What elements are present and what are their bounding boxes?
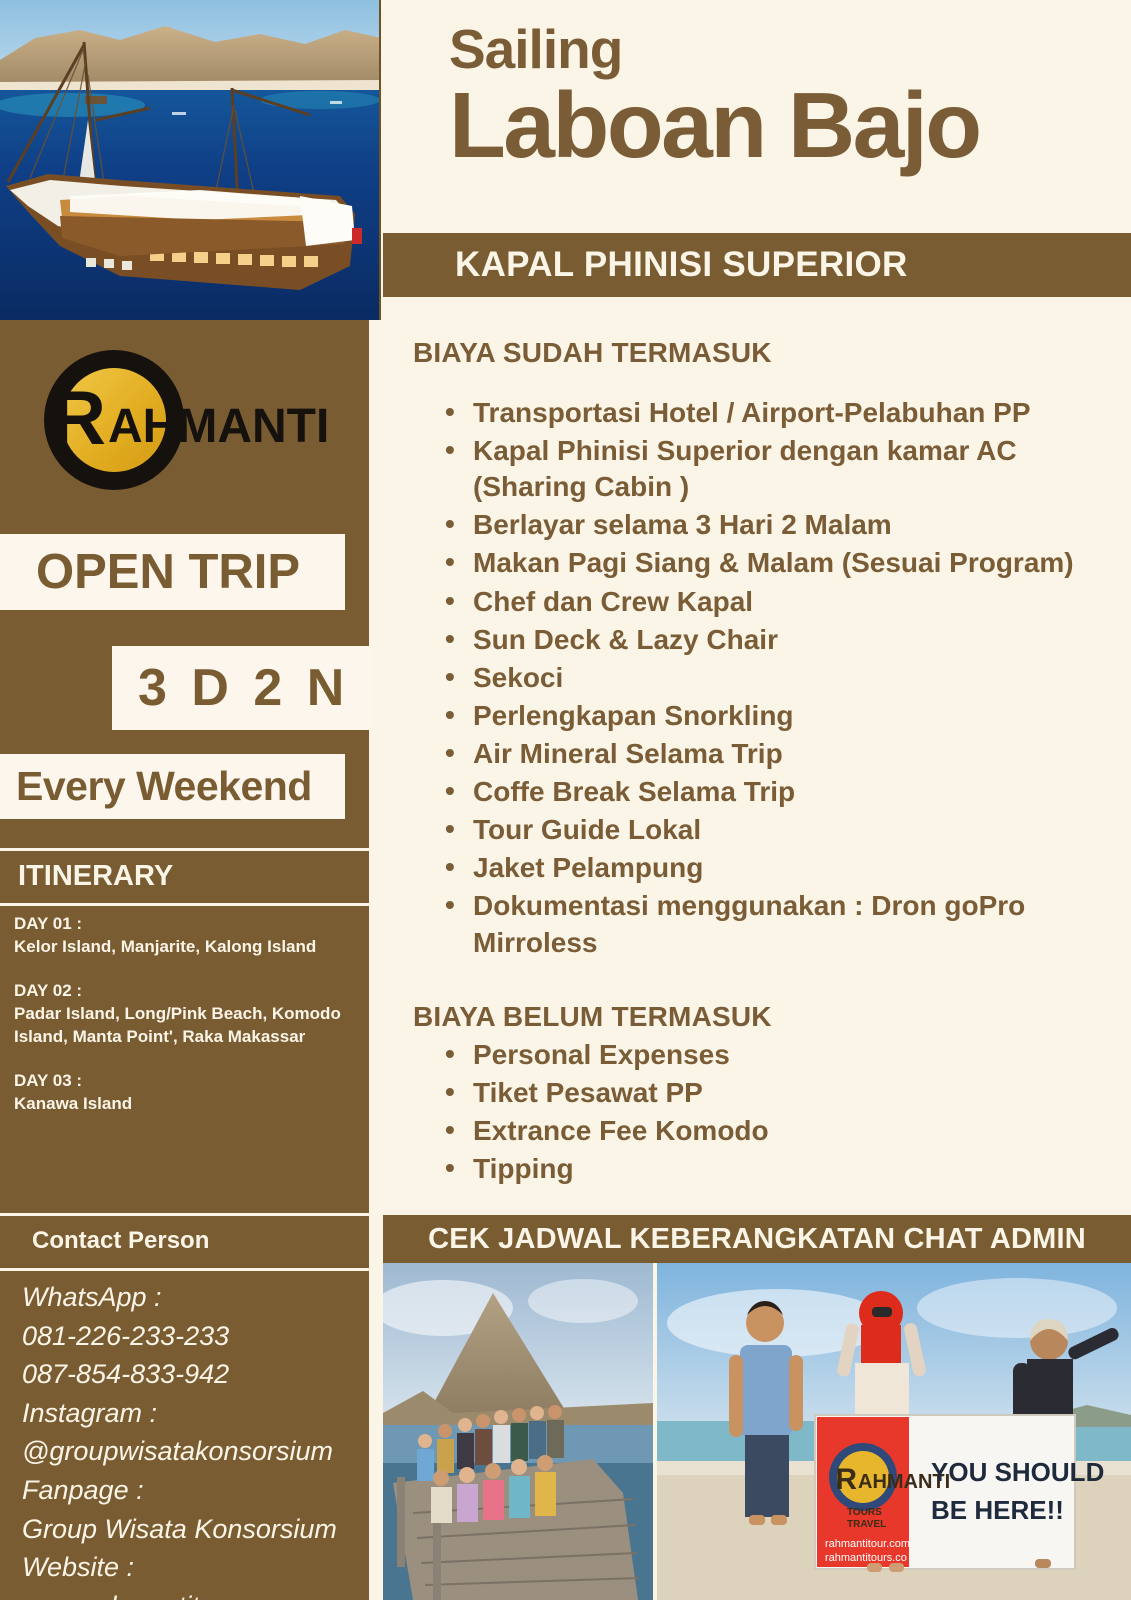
title-line-destination: Laboan Bajo	[449, 79, 1131, 172]
itinerary-day: DAY 03 : Kanawa Island	[14, 1070, 366, 1116]
svg-text:TOURS: TOURS	[847, 1507, 882, 1518]
day-places: Padar Island, Long/Pink Beach, Komodo Is…	[14, 1003, 366, 1049]
svg-text:rahmantitours.co: rahmantitours.co	[825, 1552, 907, 1564]
contact-line[interactable]: 081-226-233-233	[22, 1317, 370, 1356]
included-item: Sekoci	[473, 660, 1131, 696]
title-bottom-spacer	[383, 297, 1131, 325]
included-item: Tour Guide Lokal	[473, 812, 1131, 848]
contact-details: WhatsApp : 081-226-233-233 087-854-833-9…	[22, 1278, 370, 1600]
svg-text:R: R	[51, 376, 106, 461]
open-trip-chip: OPEN TRIP	[0, 534, 345, 610]
included-item: Sun Deck & Lazy Chair	[473, 622, 1131, 658]
duration-label: 3 D 2 N	[138, 658, 349, 718]
included-item: Jaket Pelampung	[473, 850, 1131, 886]
contact-line[interactable]: 087-854-833-942	[22, 1355, 370, 1394]
divider-itinerary-bottom	[0, 903, 371, 906]
poster-title-block: Sailing Laboan Bajo	[383, 0, 1131, 233]
included-item: Air Mineral Selama Trip	[473, 736, 1131, 772]
included-item: Transportasi Hotel / Airport-Pelabuhan P…	[473, 395, 1131, 431]
tourists-with-banner-photo: R AHMANTI TOURS TRAVEL rahmantitour.com …	[657, 1263, 1131, 1600]
contact-line[interactable]: Group Wisata Konsorsium	[22, 1510, 370, 1549]
ship-hero-photo	[0, 0, 381, 320]
contact-line[interactable]: @groupwisatakonsorsium	[22, 1432, 370, 1471]
left-sidebar: R AHMANTI OPEN TRIP 3 D 2 N Every Weeken…	[0, 320, 371, 1600]
day-label: DAY 02 :	[14, 980, 366, 1003]
svg-text:AHMANTI: AHMANTI	[108, 400, 329, 453]
contact-line: Fanpage :	[22, 1471, 370, 1510]
excluded-item: Tipping	[473, 1151, 1131, 1187]
group-on-jetty-photo	[383, 1263, 653, 1600]
itinerary-heading-text: ITINERARY	[18, 860, 173, 893]
contact-heading-text: Contact Person	[32, 1227, 209, 1255]
svg-text:BE HERE!!: BE HERE!!	[931, 1495, 1064, 1525]
svg-text:R: R	[835, 1463, 857, 1496]
poster-root: Sailing Laboan Bajo KAPAL PHINISI SUPERI…	[0, 0, 1131, 1600]
excluded-item: Personal Expenses	[473, 1037, 1131, 1073]
subtitle-text: KAPAL PHINISI SUPERIOR	[455, 245, 908, 285]
day-label: DAY 01 :	[14, 913, 366, 936]
contact-line: WhatsApp :	[22, 1278, 370, 1317]
title-line-sailing: Sailing	[449, 22, 1131, 77]
included-list: Transportasi Hotel / Airport-Pelabuhan P…	[413, 395, 1131, 961]
itinerary-list: DAY 01 : Kelor Island, Manjarite, Kalong…	[14, 913, 366, 1137]
open-trip-label: OPEN TRIP	[36, 544, 300, 600]
subtitle-band: KAPAL PHINISI SUPERIOR	[383, 233, 1131, 297]
inclusions-panel: BIAYA SUDAH TERMASUK Transportasi Hotel …	[383, 325, 1131, 1215]
included-item: Makan Pagi Siang & Malam (Sesuai Program…	[473, 545, 1131, 581]
frequency-label: Every Weekend	[16, 763, 312, 810]
svg-text:YOU SHOULD: YOU SHOULD	[931, 1457, 1104, 1487]
excluded-heading: BIAYA BELUM TERMASUK	[413, 1001, 1131, 1033]
cta-banner[interactable]: CEK JADWAL KEBERANGKATAN CHAT ADMIN	[383, 1215, 1131, 1263]
duration-chip: 3 D 2 N	[112, 646, 371, 730]
contact-line: Instagram :	[22, 1394, 370, 1433]
day-places: Kelor Island, Manjarite, Kalong Island	[14, 936, 366, 959]
svg-text:TRAVEL: TRAVEL	[847, 1519, 886, 1530]
excluded-item: Tiket Pesawat PP	[473, 1075, 1131, 1111]
included-item: Perlengkapan Snorkling	[473, 698, 1131, 734]
included-item: Dokumentasi menggunakan : Dron goPro Mir…	[473, 888, 1131, 960]
day-label: DAY 03 :	[14, 1070, 366, 1093]
itinerary-day: DAY 01 : Kelor Island, Manjarite, Kalong…	[14, 913, 366, 959]
itinerary-day: DAY 02 : Padar Island, Long/Pink Beach, …	[14, 980, 366, 1049]
day-places: Kanawa Island	[14, 1093, 366, 1116]
svg-text:rahmantitour.com: rahmantitour.com	[825, 1538, 910, 1550]
rahmanti-logo: R AHMANTI	[0, 342, 371, 507]
contact-heading: Contact Person	[32, 1216, 362, 1266]
cta-banner-text: CEK JADWAL KEBERANGKATAN CHAT ADMIN	[428, 1223, 1086, 1256]
included-item: Coffe Break Selama Trip	[473, 774, 1131, 810]
included-item: Chef dan Crew Kapal	[473, 584, 1131, 620]
contact-line: Website :	[22, 1548, 370, 1587]
frequency-chip: Every Weekend	[0, 754, 345, 819]
included-heading: BIAYA SUDAH TERMASUK	[413, 337, 1131, 369]
divider-contact-bottom	[0, 1268, 371, 1271]
contact-line[interactable]: www.rahmantitours.co	[22, 1587, 370, 1600]
excluded-item: Extrance Fee Komodo	[473, 1113, 1131, 1149]
excluded-list: Personal Expenses Tiket Pesawat PP Extra…	[413, 1037, 1131, 1187]
itinerary-heading: ITINERARY	[18, 850, 358, 902]
included-item: Berlayar selama 3 Hari 2 Malam	[473, 507, 1131, 543]
included-item: Kapal Phinisi Superior dengan kamar AC (…	[473, 433, 1131, 505]
